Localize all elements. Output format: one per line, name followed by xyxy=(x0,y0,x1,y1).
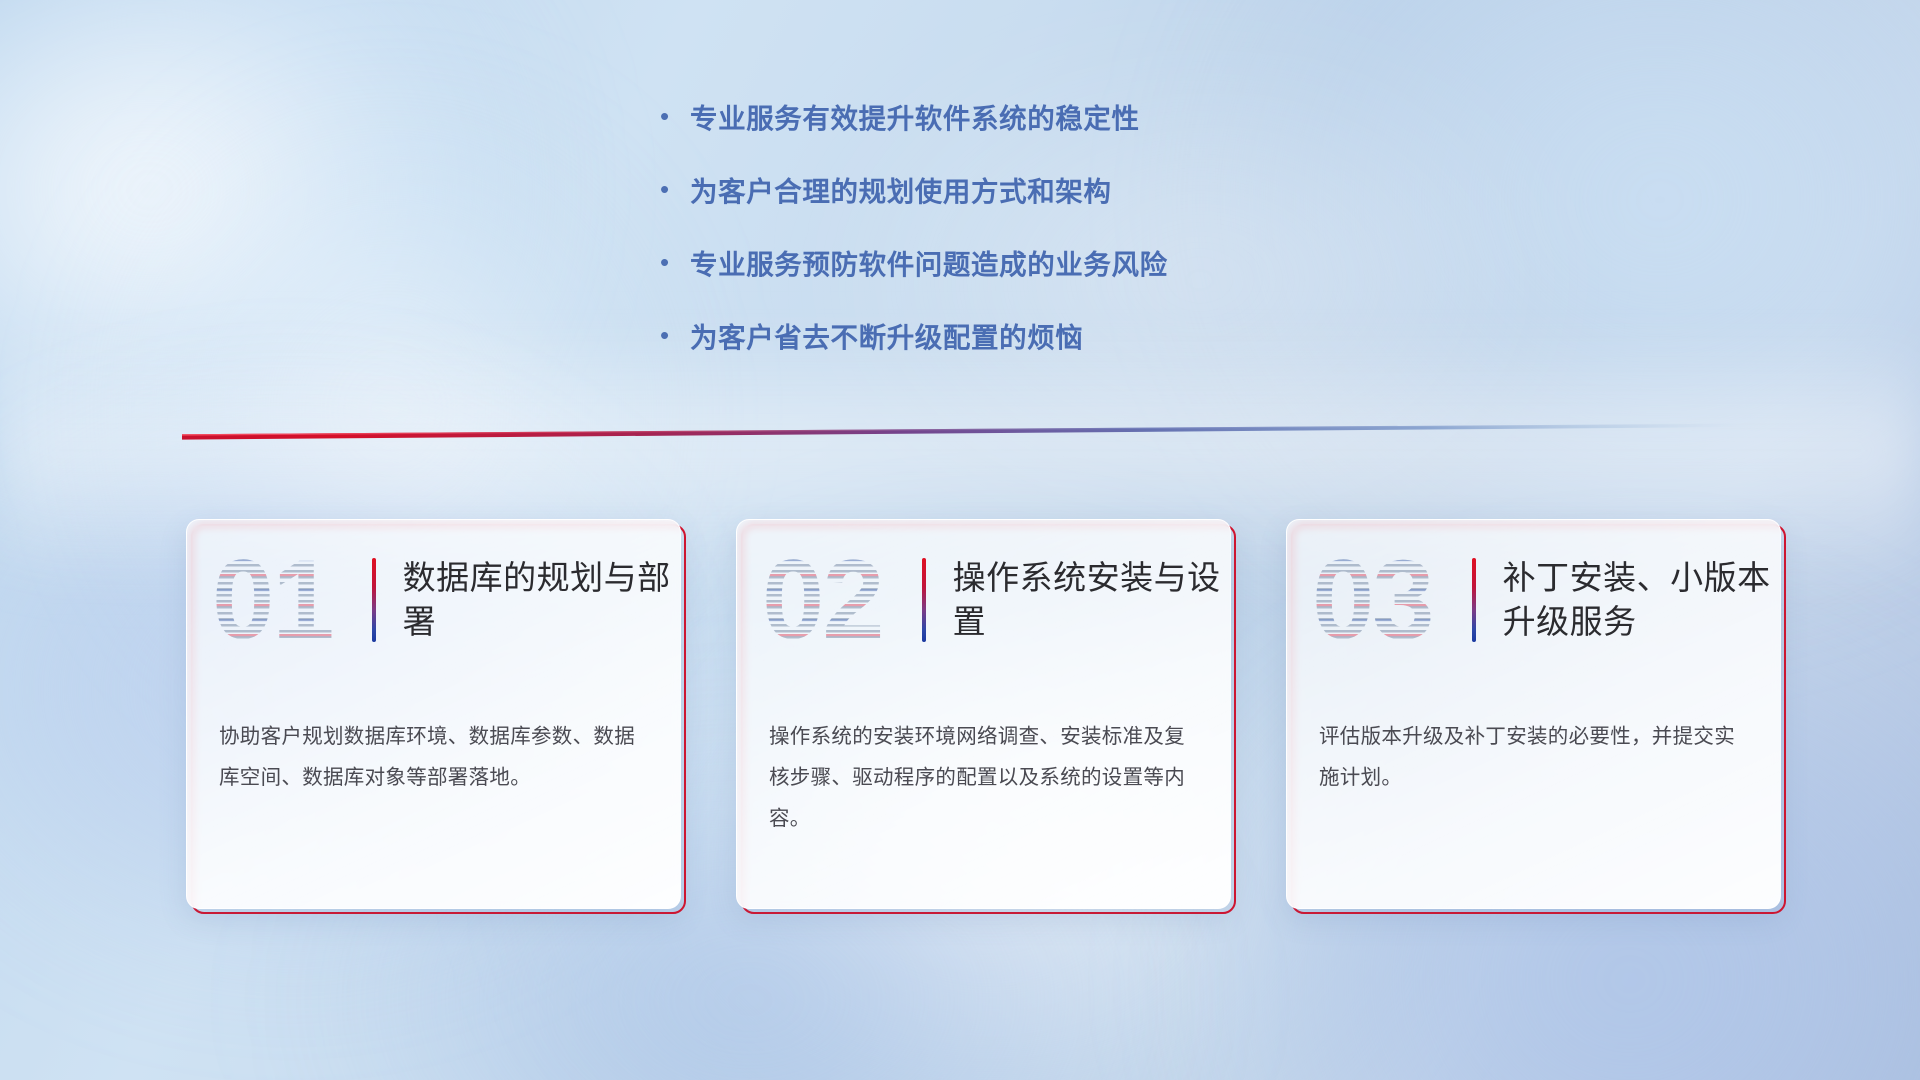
list-item: • 为客户省去不断升级配置的烦恼 xyxy=(660,315,1168,355)
striped-number-02-icon: 02 02 xyxy=(762,540,922,660)
bullet-text: 专业服务有效提升软件系统的稳定性 xyxy=(690,96,1140,136)
card-header: 03 03 补丁安装、小版本升级服务 xyxy=(1287,520,1780,680)
service-card[interactable]: 01 01 数据库的规划与部署 协助客户规划数据库环境、数据库参数、数据库空间、… xyxy=(186,519,681,909)
card-surface: 02 02 操作系统安装与设置 操作系统的安装环境网络调查、安装标准及复核步骤、… xyxy=(736,519,1231,909)
card-number-graphic: 01 01 xyxy=(212,540,372,660)
card-number-graphic: 03 03 xyxy=(1312,540,1472,660)
list-item: • 为客户合理的规划使用方式和架构 xyxy=(660,169,1168,209)
card-accent-rule xyxy=(1472,558,1476,642)
svg-text:03: 03 xyxy=(1312,540,1433,660)
striped-number-03-icon: 03 03 xyxy=(1312,540,1472,660)
card-title: 操作系统安装与设置 xyxy=(953,556,1230,643)
card-header: 02 02 操作系统安装与设置 xyxy=(737,520,1230,680)
bullet-text: 为客户省去不断升级配置的烦恼 xyxy=(690,315,1083,355)
service-card[interactable]: 03 03 补丁安装、小版本升级服务 评估版本升级及补丁安装的必要性，并提交实施… xyxy=(1286,519,1781,909)
bullet-marker-icon: • xyxy=(660,322,690,348)
svg-text:01: 01 xyxy=(212,540,333,660)
card-surface: 03 03 补丁安装、小版本升级服务 评估版本升级及补丁安装的必要性，并提交实施… xyxy=(1286,519,1781,909)
svg-text:02: 02 xyxy=(762,540,883,660)
service-card[interactable]: 02 02 操作系统安装与设置 操作系统的安装环境网络调查、安装标准及复核步骤、… xyxy=(736,519,1231,909)
card-title: 数据库的规划与部署 xyxy=(403,556,680,643)
bullet-marker-icon: • xyxy=(660,249,690,275)
service-card-list: 01 01 数据库的规划与部署 协助客户规划数据库环境、数据库参数、数据库空间、… xyxy=(186,519,1781,909)
card-description: 评估版本升级及补丁安装的必要性，并提交实施计划。 xyxy=(1319,716,1750,798)
card-title: 补丁安装、小版本升级服务 xyxy=(1503,556,1780,643)
list-item: • 专业服务有效提升软件系统的稳定性 xyxy=(660,96,1168,136)
bullet-marker-icon: • xyxy=(660,103,690,129)
card-number-graphic: 02 02 xyxy=(762,540,922,660)
benefits-bullet-list: • 专业服务有效提升软件系统的稳定性 • 为客户合理的规划使用方式和架构 • 专… xyxy=(660,96,1168,355)
card-accent-rule xyxy=(922,558,926,642)
bullet-text: 为客户合理的规划使用方式和架构 xyxy=(690,169,1112,209)
striped-number-01-icon: 01 01 xyxy=(212,540,372,660)
card-description: 操作系统的安装环境网络调查、安装标准及复核步骤、驱动程序的配置以及系统的设置等内… xyxy=(769,716,1200,839)
card-header: 01 01 数据库的规划与部署 xyxy=(187,520,680,680)
card-description: 协助客户规划数据库环境、数据库参数、数据库空间、数据库对象等部署落地。 xyxy=(219,716,650,798)
card-surface: 01 01 数据库的规划与部署 协助客户规划数据库环境、数据库参数、数据库空间、… xyxy=(186,519,681,909)
bullet-marker-icon: • xyxy=(660,176,690,202)
list-item: • 专业服务预防软件问题造成的业务风险 xyxy=(660,242,1168,282)
card-accent-rule xyxy=(372,558,376,642)
bullet-text: 专业服务预防软件问题造成的业务风险 xyxy=(690,242,1168,282)
